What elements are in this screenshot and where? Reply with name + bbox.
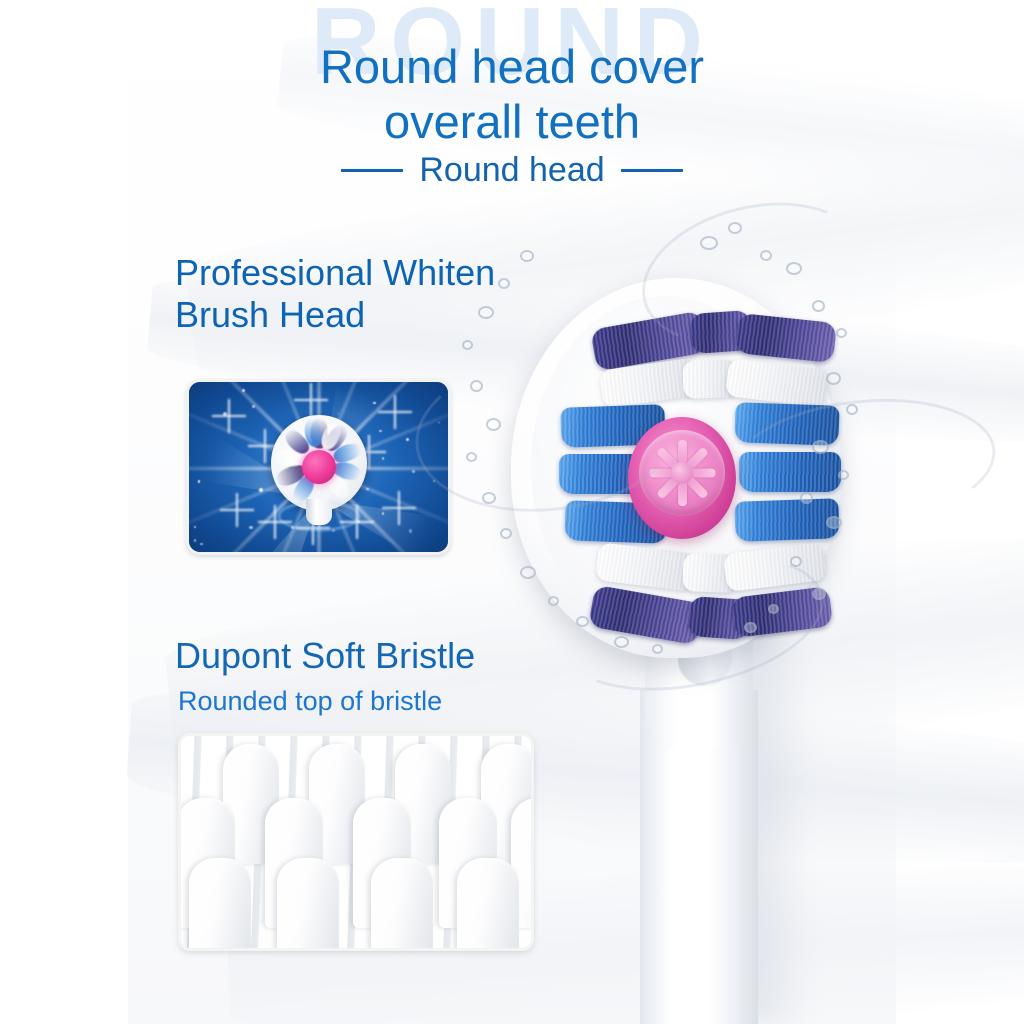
tagline-row: Round head xyxy=(0,153,1024,187)
tagline-rule-left xyxy=(341,169,403,172)
headline-line-2: overall teeth xyxy=(0,95,1024,150)
tagline-text: Round head xyxy=(419,153,604,187)
page-title: Round head cover overall teeth xyxy=(0,40,1024,150)
headline-line-1: Round head cover xyxy=(320,40,704,93)
bristle-macro-photo xyxy=(178,733,534,951)
section-two-subtitle: Rounded top of bristle xyxy=(178,688,442,715)
inset-brush-head xyxy=(265,413,373,521)
whitening-inset-photo xyxy=(186,379,451,555)
product-marketing-image: ROUND Round head cover overall teeth Rou… xyxy=(0,0,1024,1024)
section-two-title: Dupont Soft Bristle xyxy=(175,638,475,674)
inset-brush-neck xyxy=(306,499,332,525)
inset-polishing-cup xyxy=(302,450,336,484)
tagline-rule-right xyxy=(621,169,683,172)
polishing-cup-hub xyxy=(671,462,693,484)
